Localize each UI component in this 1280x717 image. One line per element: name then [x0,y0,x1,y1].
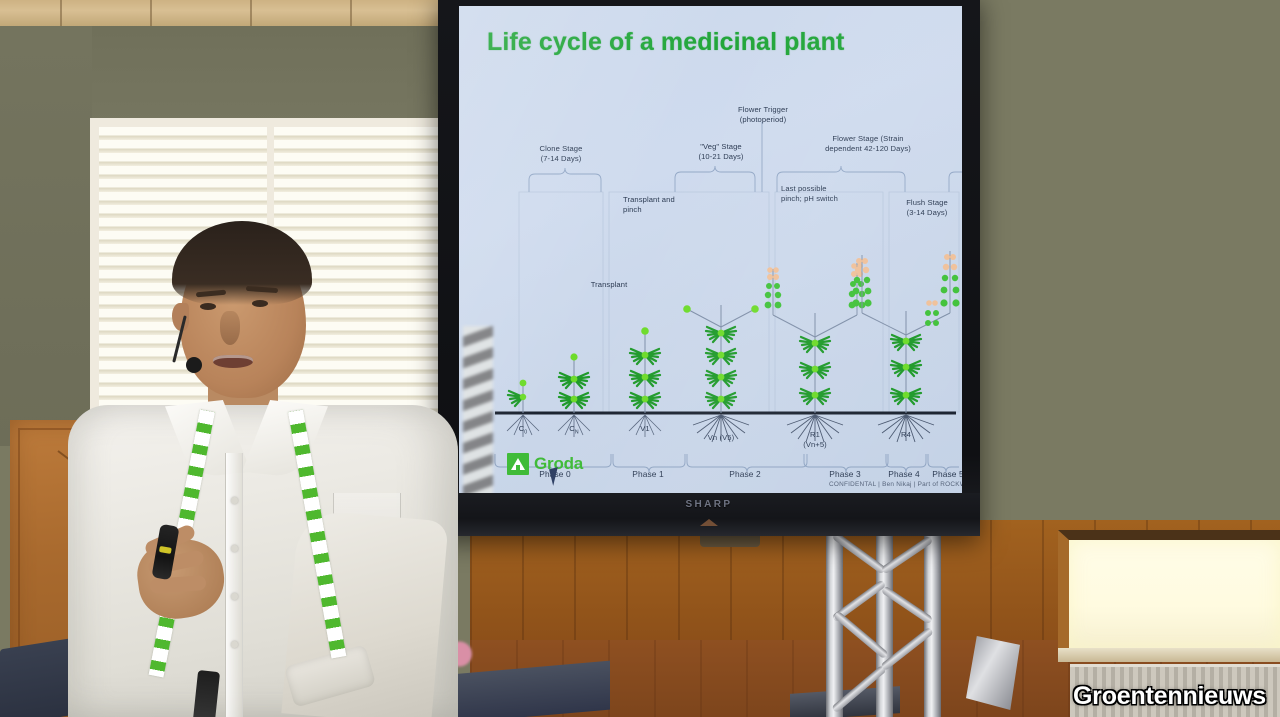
speaker: Grodan Ben Nikaj Grodan [60,215,460,717]
hair [172,221,312,305]
wooden-ceiling [0,0,470,26]
label-c0: C0 [505,424,541,438]
sharp-chevron-icon [700,519,718,526]
headset-mic-icon [186,357,202,373]
monitor-bottom-bezel: SHARP [438,493,980,536]
label-phase-5: Phase 5 [914,470,962,480]
right-window-sill [1058,648,1280,662]
sharp-brand-label: SHARP [438,499,980,510]
aluminium-truss [820,535,950,717]
life-cycle-diagram [459,6,962,493]
label-flower-stage: Flower Stage (Strain dependent 42-120 Da… [793,134,943,153]
grodan-logo: Groda [507,453,583,475]
label-veg-stage: "Veg" Stage (10-21 Days) [659,142,783,161]
label-last-possible-pinch: Last possible pinch; pH switch [781,184,885,203]
shirt-placket [225,453,243,717]
label-cn: CN [556,424,592,438]
label-flower-trigger: Flower Trigger (photoperiod) [709,105,817,124]
screen-reflection [463,326,493,493]
site-watermark: Groentennieuws [1073,682,1266,711]
slide-footer-confidential: CONFIDENTAL | Ben Nikaj | Part of ROCKW [829,481,962,488]
truss-tube [924,535,941,717]
label-phase-3: Phase 3 [811,470,879,480]
label-r1: R1 (Vn+5) [789,430,841,449]
label-phase-2: Phase 2 [711,470,779,480]
presentation-photo: Life cycle of a medicinal plant [0,0,1280,717]
nose [220,311,240,345]
label-v1: V1 [627,424,663,434]
label-transplant: Transplant [557,280,661,290]
label-clone-stage: Clone Stage (7-14 Days) [505,144,617,163]
label-vn-v5: Vn (V5) [693,433,749,443]
sharp-display: Life cycle of a medicinal plant [438,0,980,536]
display-screen: Life cycle of a medicinal plant [459,6,962,493]
label-flush-stage: Flush Stage (3-14 Days) [889,198,962,217]
label-phase-1: Phase 1 [614,470,682,480]
grodan-mark-icon [507,453,529,475]
truss-tube [826,535,843,717]
label-transplant-and-pinch: Transplant and pinch [623,195,719,214]
presentation-slide: Life cycle of a medicinal plant [459,6,962,493]
right-window [1058,530,1280,650]
mouth [213,355,253,368]
label-r4: R4 [888,430,924,440]
